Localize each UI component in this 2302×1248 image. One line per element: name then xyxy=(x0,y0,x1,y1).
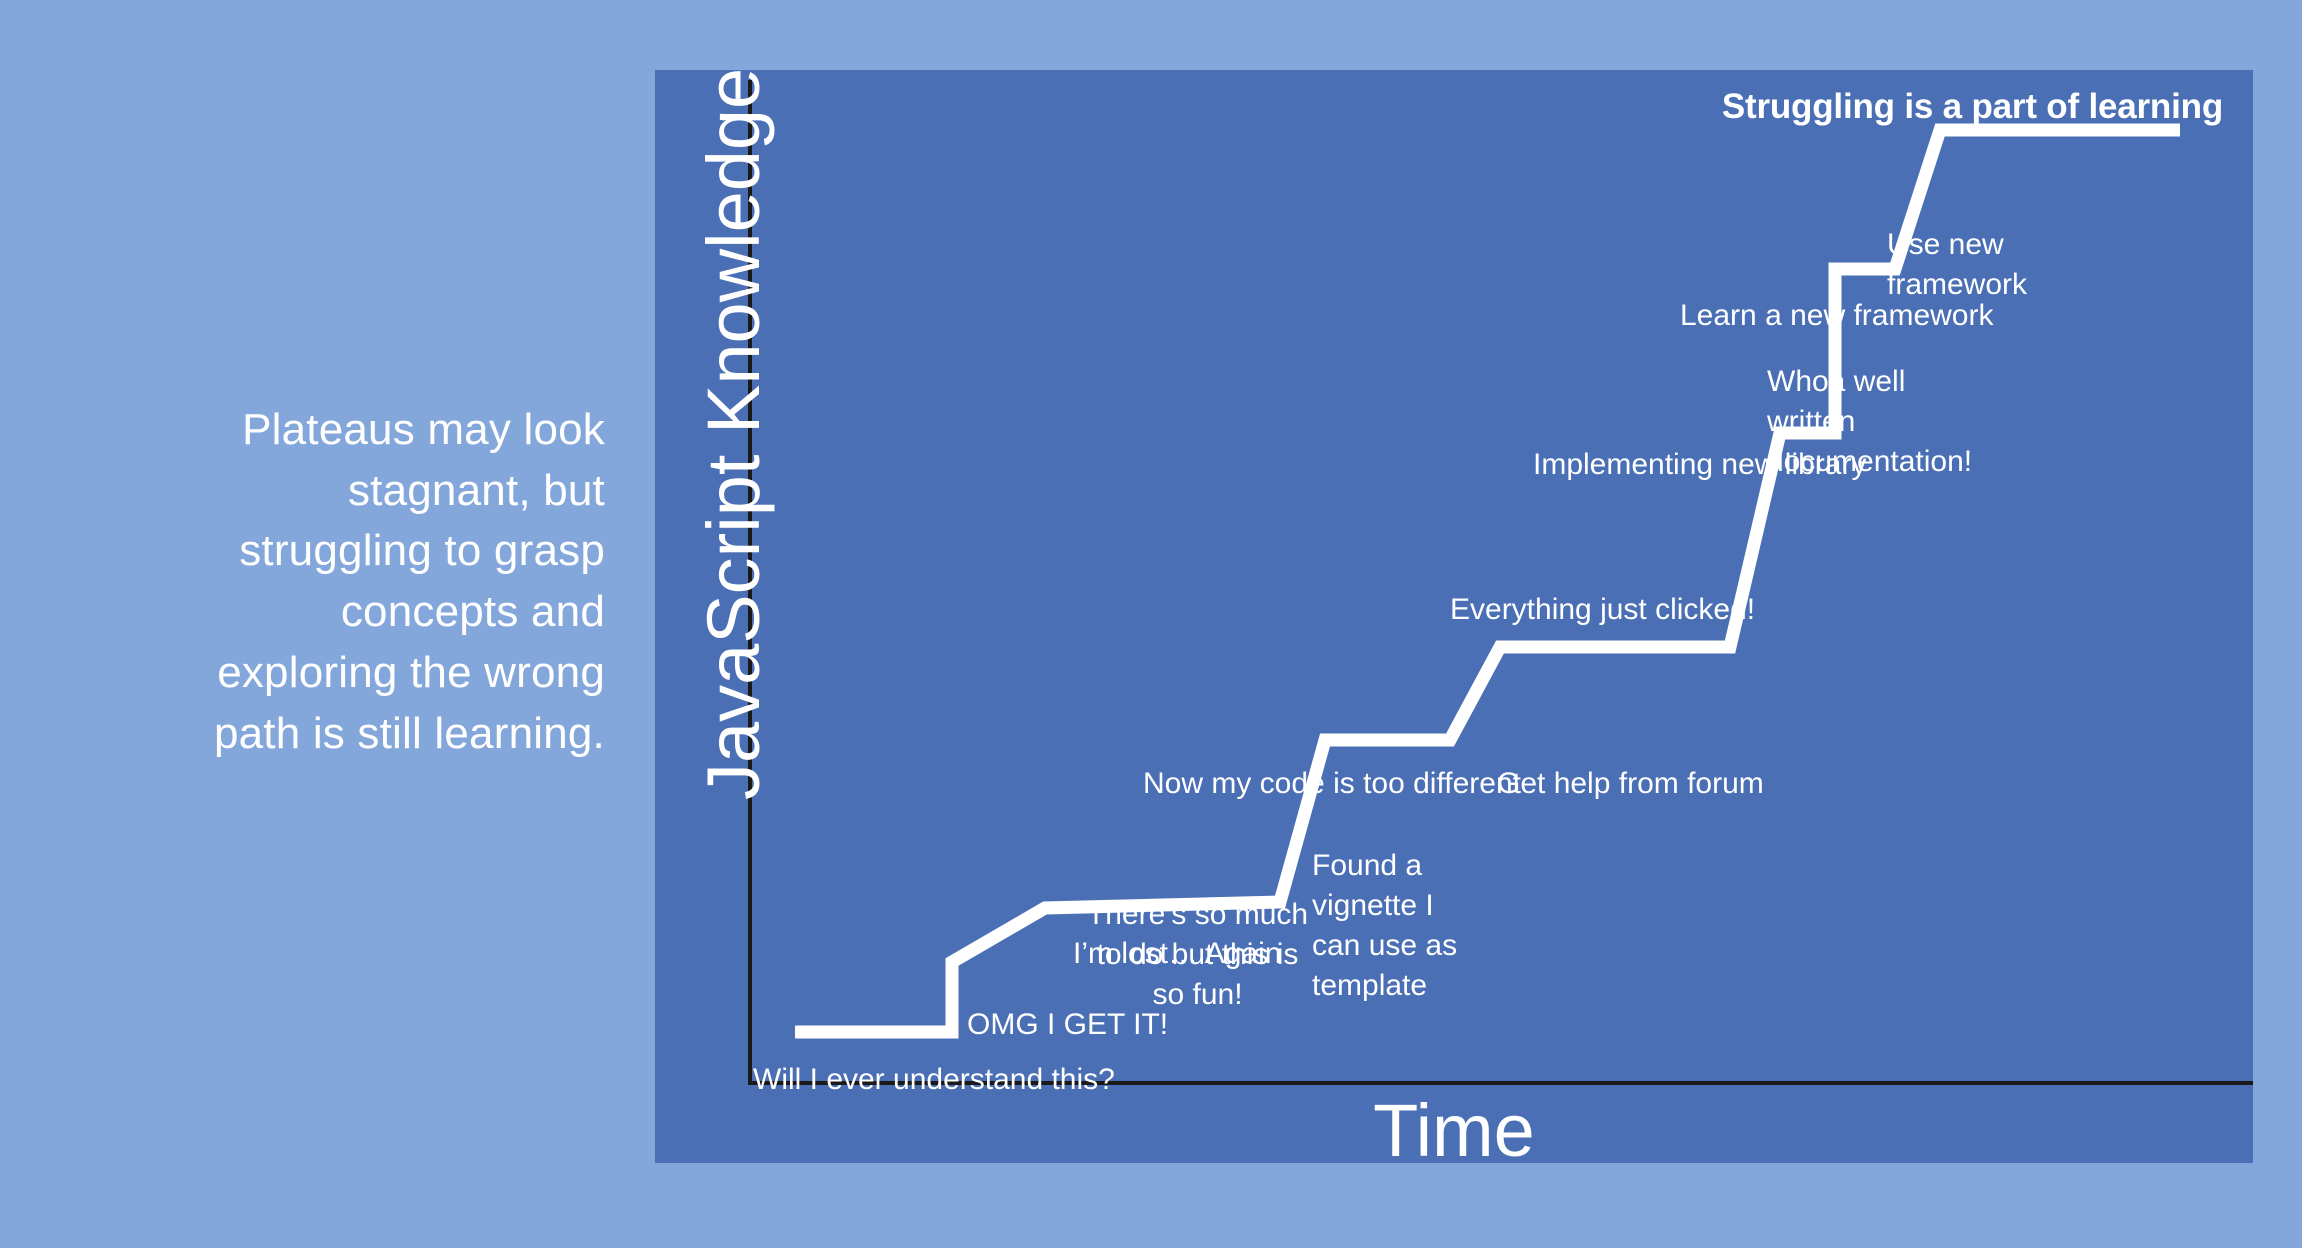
x-axis-title: Time xyxy=(655,1090,2253,1171)
slide-canvas: Plateaus may look stagnant, but struggli… xyxy=(0,0,2302,1248)
annotation-use-new-framework: Use new framework xyxy=(1887,225,2067,305)
annotation-whoa-well-written-documentation: Whoa well written documentation! xyxy=(1767,362,1967,482)
annotation-get-help-from-forum: Get help from forum xyxy=(1497,764,1764,804)
annotation-found-a-vignette: Found a vignette I can use as template xyxy=(1312,846,1522,1006)
annotation-omg-i-get-it: OMG I GET IT! xyxy=(967,1005,1168,1045)
caption-text: Plateaus may look stagnant, but struggli… xyxy=(150,400,605,764)
annotation-now-my-code-is-too-different: Now my code is too different xyxy=(1143,764,1521,804)
annotation-im-lost-again: I’m lost… Again xyxy=(1073,934,1281,974)
annotation-everything-just-clicked: Everything just clicked! xyxy=(1450,590,1755,630)
chart-panel: Struggling is a part of learning JavaScr… xyxy=(655,70,2253,1163)
